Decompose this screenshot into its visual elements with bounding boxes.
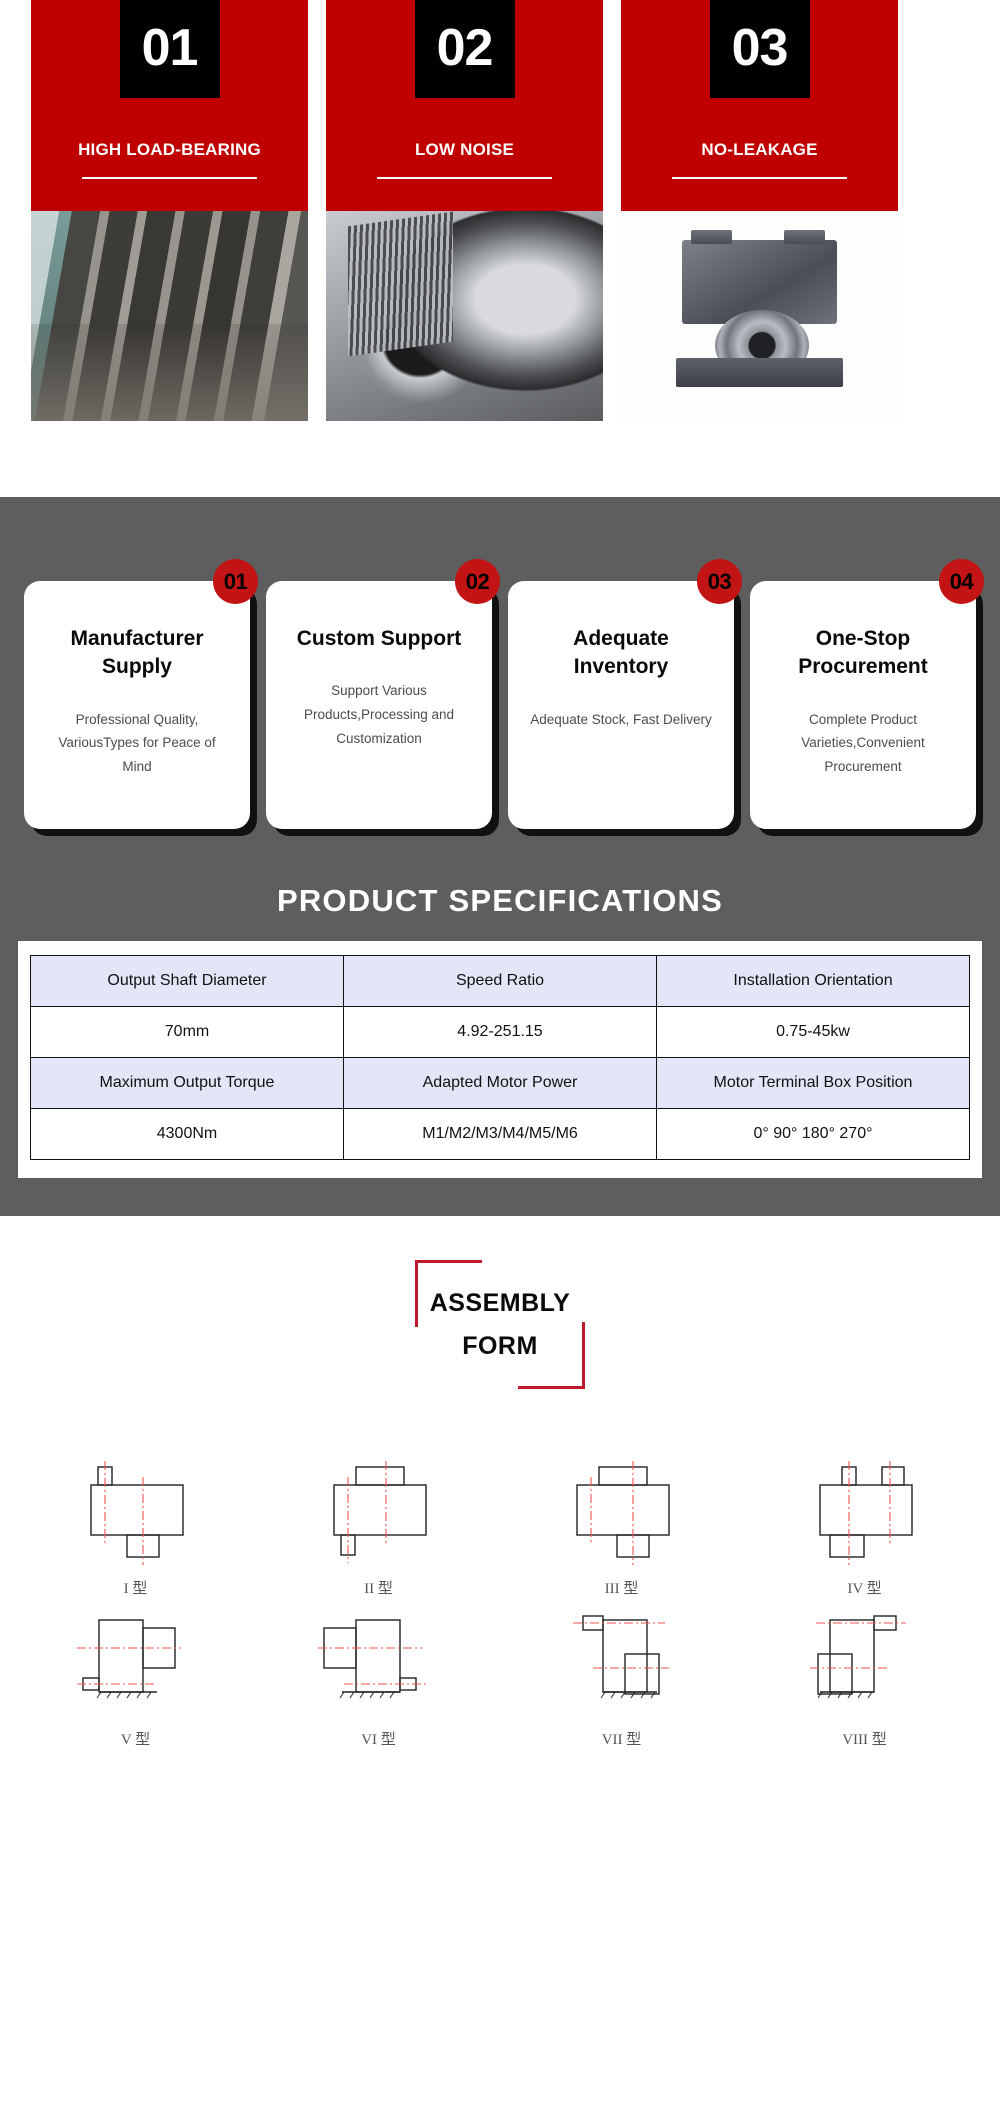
- hero-panel-3: 03 NO-LEAKAGE: [621, 0, 898, 497]
- assembly-diagram-grid: I 型 II 型: [0, 1389, 1000, 1783]
- assembly-diagram-4: IV 型: [743, 1447, 986, 1598]
- assembly-diagram-1-drawing: [61, 1447, 211, 1567]
- product-specifications-heading: PRODUCT SPECIFICATIONS: [0, 829, 1000, 941]
- assembly-diagram-6: VI 型: [257, 1598, 500, 1749]
- spec-header-cell: Adapted Motor Power: [344, 1058, 657, 1109]
- advantage-card-3-badge: 03: [697, 559, 742, 604]
- spec-value-cell: 4300Nm: [31, 1109, 344, 1160]
- spec-value-cell: 4.92-251.15: [344, 1007, 657, 1058]
- assembly-diagram-3-drawing: [547, 1447, 697, 1567]
- hero-panel-1-number: 01: [120, 0, 220, 98]
- assembly-diagram-4-drawing: [790, 1447, 940, 1567]
- assembly-diagram-6-drawing: [304, 1598, 454, 1718]
- advantage-card-4-desc: Complete Product Varieties,Convenient Pr…: [768, 708, 958, 779]
- hero-panel-1: 01 HIGH LOAD-BEARING: [31, 0, 308, 497]
- assembly-diagram-2-label: II 型: [257, 1577, 500, 1598]
- hero-panel-1-divider: [82, 177, 257, 179]
- hero-feature-panels: 01 HIGH LOAD-BEARING 02 LOW NOISE 03 NO-…: [0, 0, 1000, 497]
- advantage-card-3-title: Adequate Inventory: [526, 625, 716, 682]
- grey-band-spacer: [0, 1178, 1000, 1216]
- hero-panel-2-title: LOW NOISE: [415, 140, 514, 160]
- hero-panel-2-number: 02: [415, 0, 515, 98]
- hero-panel-1-image: [31, 211, 308, 421]
- assembly-diagram-6-label: VI 型: [257, 1728, 500, 1749]
- advantage-card-4-badge: 04: [939, 559, 984, 604]
- hero-panel-2-divider: [377, 177, 552, 179]
- gearbox-base: [676, 358, 842, 387]
- advantage-card-4-title: One-Stop Procurement: [768, 625, 958, 682]
- assembly-diagram-5: V 型: [14, 1598, 257, 1749]
- assembly-diagram-5-label: V 型: [14, 1728, 257, 1749]
- hero-panel-3-image: [621, 211, 898, 421]
- spec-header-cell: Maximum Output Torque: [31, 1058, 344, 1109]
- product-specifications-table: Output Shaft Diameter Speed Ratio Instal…: [30, 955, 970, 1160]
- assembly-diagram-7-label: VII 型: [500, 1728, 743, 1749]
- hero-panel-1-header: 01 HIGH LOAD-BEARING: [31, 0, 308, 211]
- assembly-diagram-8-label: VIII 型: [743, 1728, 986, 1749]
- table-row: Maximum Output Torque Adapted Motor Powe…: [31, 1058, 970, 1109]
- table-row: Output Shaft Diameter Speed Ratio Instal…: [31, 956, 970, 1007]
- spec-header-cell: Installation Orientation: [657, 956, 970, 1007]
- hero-panel-1-title: HIGH LOAD-BEARING: [78, 140, 261, 160]
- assembly-form-section: ASSEMBLY FORM I 型: [0, 1216, 1000, 1783]
- assembly-diagram-5-drawing: [61, 1598, 211, 1718]
- gearbox-housing-photo: [621, 211, 898, 421]
- table-row: 4300Nm M1/M2/M3/M4/M5/M6 0° 90° 180° 270…: [31, 1109, 970, 1160]
- advantage-card-1-title: Manufacturer Supply: [42, 625, 232, 682]
- spec-header-cell: Output Shaft Diameter: [31, 956, 344, 1007]
- assembly-diagram-4-label: IV 型: [743, 1577, 986, 1598]
- assembly-form-title-block: ASSEMBLY FORM: [415, 1260, 585, 1389]
- product-detail-page: 01 HIGH LOAD-BEARING 02 LOW NOISE 03 NO-…: [0, 0, 1000, 1783]
- advantage-card-4[interactable]: 04 One-Stop Procurement Complete Product…: [750, 581, 976, 829]
- spec-header-cell: Speed Ratio: [344, 956, 657, 1007]
- advantage-card-1[interactable]: 01 Manufacturer Supply Professional Qual…: [24, 581, 250, 829]
- assembly-diagram-2-drawing: [304, 1447, 454, 1567]
- helical-gears-photo: [31, 211, 308, 421]
- spec-value-cell: 0° 90° 180° 270°: [657, 1109, 970, 1160]
- advantage-card-3-desc: Adequate Stock, Fast Delivery: [526, 708, 716, 732]
- hero-panel-3-number: 03: [710, 0, 810, 98]
- advantage-card-2-badge: 02: [455, 559, 500, 604]
- spec-value-cell: M1/M2/M3/M4/M5/M6: [344, 1109, 657, 1160]
- spec-header-cell: Motor Terminal Box Position: [657, 1058, 970, 1109]
- advantages-and-specs-section: 01 Manufacturer Supply Professional Qual…: [0, 497, 1000, 1216]
- bearing-gear-photo: [326, 211, 603, 421]
- table-row: 70mm 4.92-251.15 0.75-45kw: [31, 1007, 970, 1058]
- assembly-diagram-7: VII 型: [500, 1598, 743, 1749]
- hero-panel-3-divider: [672, 177, 847, 179]
- advantage-card-3[interactable]: 03 Adequate Inventory Adequate Stock, Fa…: [508, 581, 734, 829]
- advantage-card-2-title: Custom Support: [284, 625, 474, 653]
- assembly-diagram-8: VIII 型: [743, 1598, 986, 1749]
- spec-value-cell: 70mm: [31, 1007, 344, 1058]
- hero-panel-2: 02 LOW NOISE: [326, 0, 603, 497]
- assembly-diagram-2: II 型: [257, 1447, 500, 1598]
- product-specifications-panel: Output Shaft Diameter Speed Ratio Instal…: [18, 941, 982, 1178]
- hero-panel-2-header: 02 LOW NOISE: [326, 0, 603, 211]
- assembly-diagram-1-label: I 型: [14, 1577, 257, 1598]
- hero-panel-3-header: 03 NO-LEAKAGE: [621, 0, 898, 211]
- assembly-diagram-3: III 型: [500, 1447, 743, 1598]
- hero-panel-3-title: NO-LEAKAGE: [701, 140, 817, 160]
- spec-value-cell: 0.75-45kw: [657, 1007, 970, 1058]
- assembly-diagram-8-drawing: [790, 1598, 940, 1718]
- advantage-cards: 01 Manufacturer Supply Professional Qual…: [0, 497, 1000, 829]
- hero-panel-2-image: [326, 211, 603, 421]
- advantage-card-2[interactable]: 02 Custom Support Support Various Produc…: [266, 581, 492, 829]
- assembly-form-title-line2: FORM: [415, 1325, 585, 1368]
- assembly-diagram-3-label: III 型: [500, 1577, 743, 1598]
- assembly-form-title-line1: ASSEMBLY: [415, 1282, 585, 1325]
- assembly-diagram-1: I 型: [14, 1447, 257, 1598]
- advantage-card-1-desc: Professional Quality, VariousTypes for P…: [42, 708, 232, 779]
- assembly-diagram-7-drawing: [547, 1598, 697, 1718]
- advantage-card-1-badge: 01: [213, 559, 258, 604]
- advantage-card-2-desc: Support Various Products,Processing and …: [284, 679, 474, 750]
